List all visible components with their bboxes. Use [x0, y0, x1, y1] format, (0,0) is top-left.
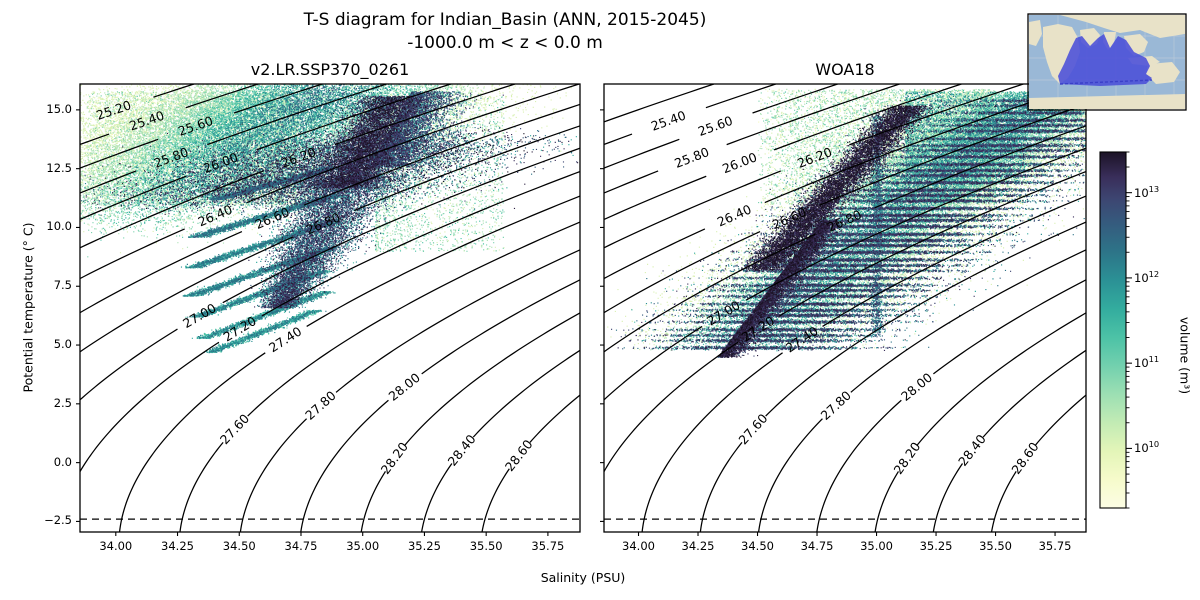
y-tick-label: 15.0 — [22, 102, 72, 116]
colorbar-tick-label: 1013 — [1134, 184, 1159, 200]
panel-right-title: WOA18 — [604, 60, 1086, 79]
x-tick-label: 34.00 — [607, 539, 671, 553]
colorbar-tick-label: 1012 — [1134, 269, 1159, 285]
x-tick-label: 34.50 — [207, 539, 271, 553]
x-axis-label: Salinity (PSU) — [80, 570, 1086, 585]
x-tick-label: 35.75 — [1023, 539, 1087, 553]
y-tick-label: 7.5 — [22, 278, 72, 292]
x-tick-label: 34.00 — [84, 539, 148, 553]
y-tick-label: 12.5 — [22, 161, 72, 175]
x-tick-label: 35.00 — [331, 539, 395, 553]
panel-left-title: v2.LR.SSP370_0261 — [80, 60, 580, 79]
x-tick-label: 35.75 — [516, 539, 580, 553]
colorbar-tick-label: 1011 — [1134, 354, 1159, 370]
y-tick-label: −2.5 — [22, 513, 72, 527]
colorbar-gradient — [1100, 152, 1126, 508]
y-tick-label: 2.5 — [22, 396, 72, 410]
figure-title-line1: T-S diagram for Indian_Basin (ANN, 2015-… — [0, 10, 1010, 30]
ts-diagram-figure: 25.2025.4025.6025.8026.0026.2026.4026.60… — [0, 0, 1200, 600]
x-tick-label: 35.25 — [904, 539, 968, 553]
x-tick-label: 35.00 — [845, 539, 909, 553]
colorbar-label: volume (m³) — [1178, 241, 1193, 471]
x-tick-label: 34.75 — [269, 539, 333, 553]
colorbar-tick-label: 1010 — [1134, 439, 1159, 455]
x-tick-label: 34.75 — [785, 539, 849, 553]
y-tick-label: 5.0 — [22, 337, 72, 351]
x-tick-label: 34.50 — [726, 539, 790, 553]
figure-title-line2: -1000.0 m < z < 0.0 m — [0, 33, 1010, 53]
y-tick-label: 10.0 — [22, 219, 72, 233]
x-tick-label: 35.50 — [964, 539, 1028, 553]
x-tick-label: 34.25 — [666, 539, 730, 553]
x-tick-label: 34.25 — [146, 539, 210, 553]
x-tick-label: 35.25 — [392, 539, 456, 553]
y-tick-label: 0.0 — [22, 455, 72, 469]
x-tick-label: 35.50 — [454, 539, 518, 553]
